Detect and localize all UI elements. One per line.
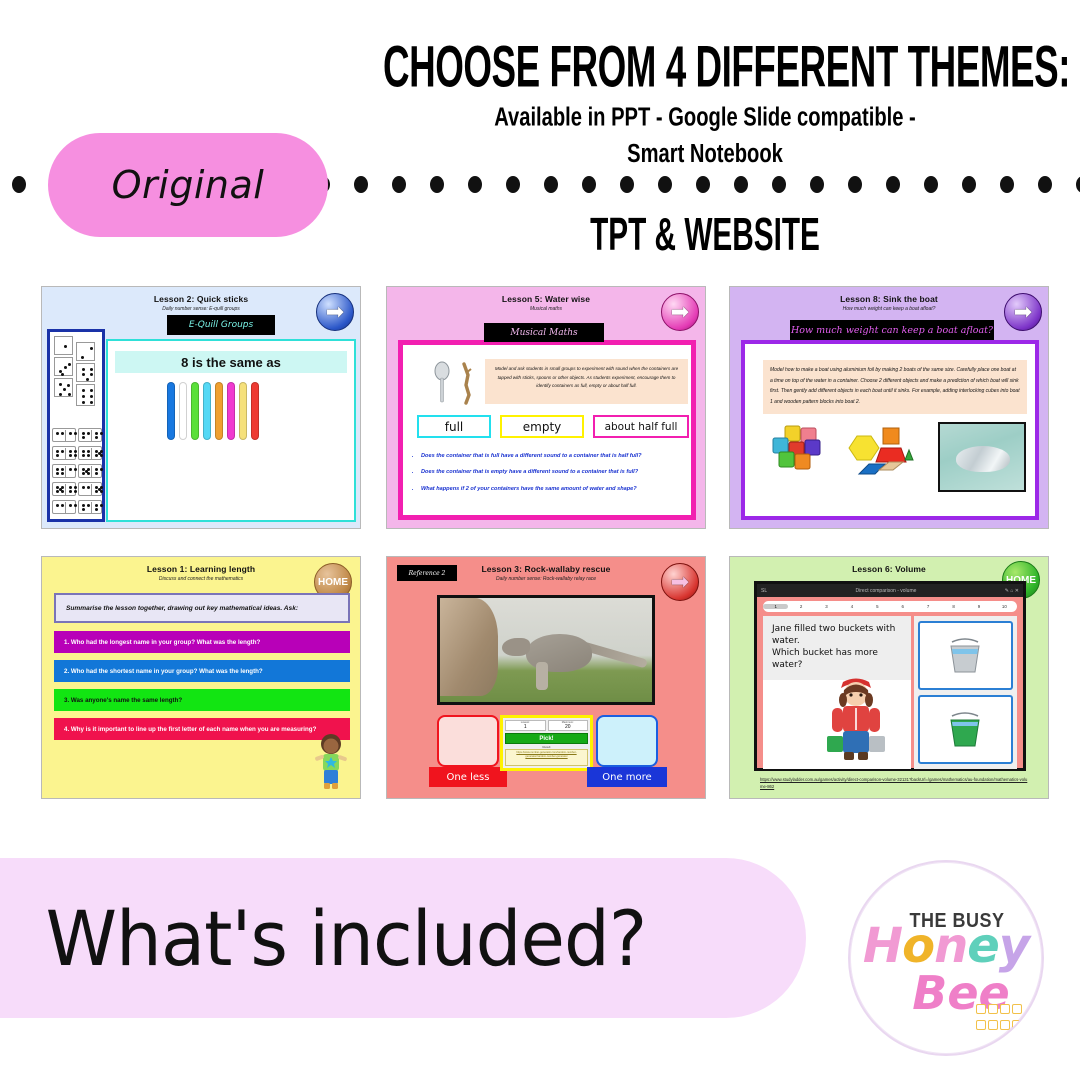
domino-tile [78, 446, 102, 460]
divider-dot [1038, 176, 1052, 193]
student-illustration [312, 733, 350, 791]
arrow-right-icon: ➡ [671, 571, 689, 593]
domino-tile [52, 482, 76, 496]
result-link[interactable]: https://www.number-generator.com/random-… [505, 749, 588, 766]
divider-dot [620, 176, 634, 193]
subtitle-line-2: Smart Notebook [355, 137, 1056, 174]
slide-banner-label: Musical Maths [510, 328, 577, 338]
counting-stick [251, 382, 259, 440]
divider-dot [924, 176, 938, 193]
domino-tile-group [50, 428, 102, 522]
next-arrow-button[interactable]: ➡ [661, 563, 699, 601]
question-bar-3: 3. Was anyone's name the same length? [54, 689, 350, 711]
dot-card [54, 378, 73, 397]
instruction-text: Model and ask students in small groups t… [485, 359, 688, 404]
theme-badge-original[interactable]: Original [48, 133, 328, 237]
divider-dot [12, 176, 26, 193]
arrow-right-icon: ➡ [1014, 301, 1032, 323]
domino-tile [78, 428, 102, 442]
question-line-3: Which bucket has more water? [772, 647, 903, 671]
slide-thumbnail-volume[interactable]: Lesson 6: Volume HOME SL Direct comparis… [729, 556, 1049, 799]
app-content: Jane filled two buckets with water. Whic… [763, 616, 1017, 769]
subtitle-line-1: Available in PPT - Google Slide compatib… [355, 100, 1056, 137]
source-url[interactable]: https://www.studyladder.com.au/games/act… [760, 777, 1028, 790]
wallaby-head [502, 638, 530, 656]
arrow-right-icon: ➡ [326, 301, 344, 323]
counting-stick [215, 382, 223, 440]
slide-content-card: Model how to make a boat using aluminium… [741, 340, 1039, 520]
one-less-label: One less [429, 767, 507, 787]
next-arrow-button[interactable]: ➡ [1004, 293, 1042, 331]
divider-dot [1000, 176, 1014, 193]
page-number-3[interactable]: 3 [814, 604, 839, 609]
app-brand: SL [761, 588, 767, 594]
list-item: What happens if 2 of your containers hav… [421, 486, 687, 493]
foil-boat-photo [938, 422, 1026, 492]
question-bar-4: 4. Why is it important to line up the fi… [54, 718, 350, 740]
domino-panel [47, 329, 105, 522]
logo-circle: THE BUSY Honey Bee [848, 860, 1044, 1056]
answer-options-pane [914, 616, 1017, 769]
theme-badge-label: Original [112, 163, 265, 207]
maximum-value: 20 [549, 724, 588, 730]
slide-subtitle: Daily number sense: E-quill groups [42, 304, 360, 312]
wallaby-leg [536, 662, 548, 690]
summary-box: Summarise the lesson together, drawing o… [54, 593, 350, 623]
divider-dot [544, 176, 558, 193]
divider-dot [506, 176, 520, 193]
tpt-website-heading: TPT & WEBSITE [366, 208, 1045, 262]
divider-dot [582, 176, 596, 193]
slide-thumbnail-water-wise[interactable]: Lesson 5: Water wise Musical maths ➡ Mus… [386, 286, 706, 529]
question-bar-1: 1. Who had the longest name in your grou… [54, 631, 350, 653]
page-number-bar[interactable]: 12345678910 [763, 601, 1017, 612]
random-number-picker[interactable]: Lowest: 1 Maximum: 20 Pick! Result https… [500, 715, 593, 771]
page-number-4[interactable]: 4 [839, 604, 864, 609]
app-title: Direct comparison - volume [856, 588, 917, 594]
counting-stick [227, 382, 235, 440]
next-arrow-button[interactable]: ➡ [316, 293, 354, 331]
dot-card [76, 363, 95, 382]
page-title: CHOOSE FROM 4 DIFFERENT THEMES: [383, 40, 1027, 96]
divider-dot [468, 176, 482, 193]
instruction-text: Model how to make a boat using aluminium… [763, 360, 1027, 414]
question-bar-2: 2. Who had the shortest name in your gro… [54, 660, 350, 682]
home-button-label: HOME [318, 577, 348, 588]
pattern-blocks-illustration [845, 426, 920, 481]
page-number-1[interactable]: 1 [763, 604, 788, 609]
question-text: Jane filled two buckets with water. Whic… [763, 616, 911, 680]
rock-shape [440, 598, 498, 696]
slide-thumbnail-sink-the-boat[interactable]: Lesson 8: Sink the boat How much weight … [729, 286, 1049, 529]
slide-subtitle: Musical maths [387, 304, 705, 312]
domino-tile [52, 446, 76, 460]
counting-stick [191, 382, 199, 440]
reference-badge: Reference 2 [397, 565, 457, 581]
arrow-right-icon: ➡ [671, 301, 689, 323]
divider-dot [658, 176, 672, 193]
reference-badge-label: Reference 2 [409, 570, 446, 577]
vocab-box-about-half-full: about half full [593, 415, 689, 438]
page-number-5[interactable]: 5 [865, 604, 890, 609]
divider-dot [962, 176, 976, 193]
slide-banner-label: How much weight can keep a boat afloat? [791, 325, 993, 336]
vocabulary-boxes: full empty about half full [417, 415, 689, 438]
divider-dot [734, 176, 748, 193]
dot-card [76, 384, 95, 406]
divider-dot [354, 176, 368, 193]
divider-dot [696, 176, 710, 193]
slide-thumbnail-learning-length[interactable]: Lesson 1: Learning length Discuss and co… [41, 556, 361, 799]
studyladder-app-window[interactable]: SL Direct comparison - volume ✎ ⌂ ✕ 1234… [754, 581, 1026, 771]
page-number-10[interactable]: 10 [992, 604, 1017, 609]
counting-stick [179, 382, 187, 440]
domino-tile [78, 464, 102, 478]
discussion-questions: Does the container that is full have a d… [421, 453, 687, 502]
slide-banner-label-box: How much weight can keep a boat afloat? [790, 320, 994, 340]
lowest-field[interactable]: Lowest: 1 [505, 720, 546, 731]
counting-stick [167, 382, 175, 440]
picker-fields-row: Lowest: 1 Maximum: 20 [505, 720, 588, 731]
bucket-option-silver[interactable] [918, 621, 1013, 690]
vocab-box-full: full [417, 415, 491, 438]
divider-dot [1076, 176, 1080, 193]
slide-banner-label: E-Quill Groups [189, 320, 253, 330]
lowest-value: 1 [506, 724, 545, 730]
counting-stick [239, 382, 247, 440]
whats-included-banner: What's included? [0, 858, 806, 1018]
page-number-8[interactable]: 8 [941, 604, 966, 609]
divider-dot [886, 176, 900, 193]
counting-stick [203, 382, 211, 440]
slide-title: Lesson 6: Volume [730, 557, 1048, 574]
domino-tile [78, 482, 102, 496]
slide-banner-label-box: E-Quill Groups [167, 315, 275, 335]
slide-title: Lesson 5: Water wise [387, 287, 705, 304]
interlocking-cubes-illustration [771, 424, 831, 474]
rock-wallaby-photo [437, 595, 655, 705]
slide-subtitle: How much weight can keep a boat afloat? [730, 304, 1048, 312]
girl-with-buckets-illustration [823, 674, 889, 766]
slide-subtitle: Discuss and connect the mathematics [42, 574, 360, 582]
question-pane: Jane filled two buckets with water. Whic… [763, 616, 911, 769]
domino-tile [52, 500, 76, 514]
divider-dot [772, 176, 786, 193]
page-number-2[interactable]: 2 [788, 604, 813, 609]
slide-content-card: Model and ask students in small groups t… [398, 340, 696, 520]
slide-banner-label-box: Musical Maths [484, 323, 604, 342]
slide-title: Lesson 2: Quick sticks [42, 287, 360, 304]
divider-dot [810, 176, 824, 193]
page-number-9[interactable]: 9 [966, 604, 991, 609]
page-subtitle: Available in PPT - Google Slide compatib… [355, 100, 1056, 174]
question-line-1: Jane filled two buckets with [772, 623, 903, 635]
divider-dot [848, 176, 862, 193]
dot-card [76, 342, 95, 361]
slide-thumbnail-rock-wallaby[interactable]: Reference 2 Lesson 3: Rock-wallaby rescu… [386, 556, 706, 799]
one-more-card[interactable] [596, 715, 658, 767]
pick-button[interactable]: Pick! [505, 733, 588, 744]
bucket-option-green[interactable] [918, 695, 1013, 764]
dot-card-group [50, 332, 102, 428]
one-less-card[interactable] [437, 715, 499, 767]
divider-dot [392, 176, 406, 193]
whats-included-text: What's included? [0, 894, 646, 983]
brand-logo: THE BUSY Honey Bee [848, 860, 1044, 1056]
question-line-2: water. [772, 635, 903, 647]
vocab-box-empty: empty [500, 415, 584, 438]
maximum-field[interactable]: Maximum: 20 [548, 720, 589, 731]
divider-dot [430, 176, 444, 193]
list-item: Does the container that is full have a d… [421, 453, 687, 460]
slide-title: Lesson 1: Learning length [42, 557, 360, 574]
honeycomb-icon [976, 1004, 1020, 1034]
dot-card [54, 336, 73, 355]
next-arrow-button[interactable]: ➡ [661, 293, 699, 331]
page-number-7[interactable]: 7 [915, 604, 940, 609]
domino-tile [52, 428, 76, 442]
one-more-label: One more [587, 767, 667, 787]
statement-bar: 8 is the same as [115, 351, 347, 373]
list-item: Does the container that is empty have a … [421, 469, 687, 476]
domino-tile [52, 464, 76, 478]
dot-card [54, 357, 73, 376]
slide-title: Lesson 8: Sink the boat [730, 287, 1048, 304]
foil-boat [956, 446, 1010, 472]
domino-tile [78, 500, 102, 514]
page-number-6[interactable]: 6 [890, 604, 915, 609]
app-title-bar: SL Direct comparison - volume ✎ ⌂ ✕ [757, 584, 1023, 597]
spoon-and-stick-illustration [428, 361, 480, 405]
counting-sticks [167, 382, 279, 440]
slide-thumbnail-quick-sticks[interactable]: Lesson 2: Quick sticks Daily number sens… [41, 286, 361, 529]
app-window-controls-icon[interactable]: ✎ ⌂ ✕ [1005, 588, 1019, 594]
